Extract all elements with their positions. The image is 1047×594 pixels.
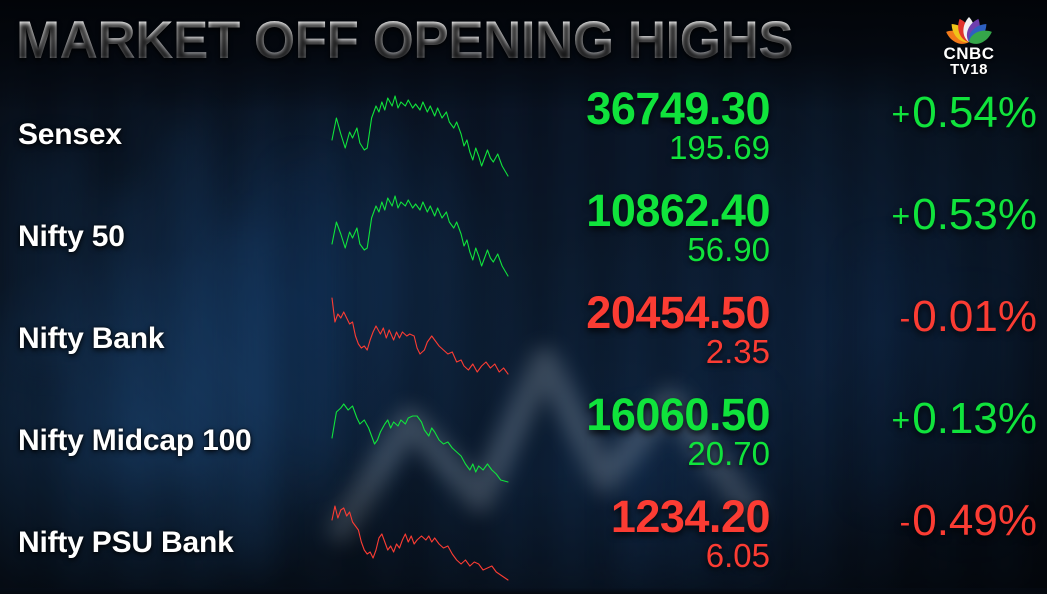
index-percent-change: -0.49%: [800, 498, 1043, 544]
cnbc-tv18-logo: CNBC TV18: [913, 8, 1025, 78]
page-title: MARKET OFF OPENING HIGHS: [16, 14, 793, 67]
index-percent-change: +0.54%: [800, 90, 1043, 136]
index-values: 20454.50 2.35: [470, 290, 770, 388]
index-change: 2.35: [470, 334, 770, 370]
index-name-label: Sensex: [18, 118, 328, 152]
index-change: 6.05: [470, 538, 770, 574]
index-row[interactable]: Nifty PSU Bank 1234.20 6.05 -0.49%: [0, 492, 1047, 594]
change-sign: +: [892, 96, 911, 132]
percent-value: 0.53%: [912, 190, 1037, 239]
index-price: 16060.50: [470, 392, 770, 438]
percent-value: 0.13%: [912, 394, 1037, 443]
market-ticker-screen: MARKET OFF OPENING HIGHS CNBC TV18 Sense…: [0, 0, 1047, 594]
index-row[interactable]: Nifty 50 10862.40 56.90 +0.53%: [0, 186, 1047, 288]
index-name-label: Nifty PSU Bank: [18, 526, 328, 560]
index-price: 1234.20: [470, 494, 770, 540]
change-sign: -: [900, 300, 911, 336]
logo-cnbc-text: CNBC: [913, 45, 1025, 62]
index-change: 56.90: [470, 232, 770, 268]
logo-tv18-text: TV18: [913, 62, 1025, 77]
change-sign: -: [900, 504, 911, 540]
index-change: 20.70: [470, 436, 770, 472]
index-price: 10862.40: [470, 188, 770, 234]
index-price: 20454.50: [470, 290, 770, 336]
index-name-label: Nifty Bank: [18, 322, 328, 356]
header-bar: MARKET OFF OPENING HIGHS CNBC TV18: [0, 0, 1047, 84]
index-percent-change: +0.53%: [800, 192, 1043, 238]
percent-value: 0.49%: [912, 496, 1037, 545]
change-sign: +: [892, 198, 911, 234]
percent-value: 0.54%: [912, 88, 1037, 137]
index-values: 10862.40 56.90: [470, 188, 770, 286]
index-values: 1234.20 6.05: [470, 494, 770, 592]
index-row[interactable]: Nifty Bank 20454.50 2.35 -0.01%: [0, 288, 1047, 390]
percent-value: 0.01%: [912, 292, 1037, 341]
index-percent-change: +0.13%: [800, 396, 1043, 442]
index-values: 36749.30 195.69: [470, 86, 770, 184]
change-sign: +: [892, 402, 911, 438]
peacock-icon: [930, 8, 1008, 44]
index-values: 16060.50 20.70: [470, 392, 770, 490]
index-row[interactable]: Nifty Midcap 100 16060.50 20.70 +0.13%: [0, 390, 1047, 492]
index-price: 36749.30: [470, 86, 770, 132]
index-name-label: Nifty Midcap 100: [18, 424, 328, 458]
index-percent-change: -0.01%: [800, 294, 1043, 340]
index-row[interactable]: Sensex 36749.30 195.69 +0.54%: [0, 84, 1047, 186]
index-name-label: Nifty 50: [18, 220, 328, 254]
index-rows: Sensex 36749.30 195.69 +0.54% Nifty 50 1…: [0, 84, 1047, 594]
index-change: 195.69: [470, 130, 770, 166]
